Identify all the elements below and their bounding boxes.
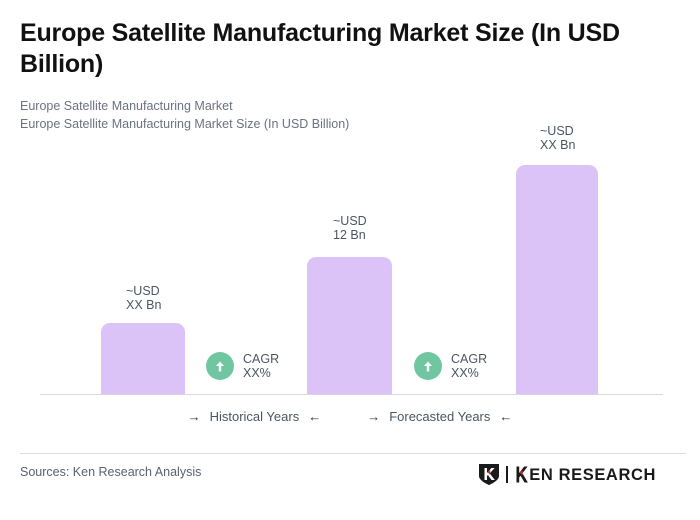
arrow-right-icon: → xyxy=(188,410,201,423)
arrow-left-icon: ← xyxy=(308,410,321,423)
cagr-label-2: CAGR XX% xyxy=(451,352,487,380)
page-title: Europe Satellite Manufacturing Market Si… xyxy=(20,18,668,80)
bar-label-mid: ~USD 12 Bn xyxy=(333,214,367,242)
sources-text: Sources: Ken Research Analysis xyxy=(20,465,201,479)
logo-separator xyxy=(506,466,508,483)
subtitle-line-1: Europe Satellite Manufacturing Market xyxy=(20,97,620,115)
cagr-badge-2: CAGR XX% xyxy=(414,352,487,380)
arrow-up-icon xyxy=(414,352,442,380)
cagr-label-1: CAGR XX% xyxy=(243,352,279,380)
bar-chart: ~USD XX Bn CAGR XX% ~USD 12 Bn xyxy=(0,120,700,400)
ken-research-logo: EN RESEARCH xyxy=(478,463,656,486)
bar-historical[interactable] xyxy=(101,323,185,395)
legend-historical-years: → Historical Years ← xyxy=(188,409,322,424)
legend-forecasted-label: Forecasted Years xyxy=(389,409,490,424)
arrow-up-icon xyxy=(206,352,234,380)
chart-page: Europe Satellite Manufacturing Market Si… xyxy=(0,0,700,520)
axis-baseline xyxy=(40,394,663,395)
logo-text: EN RESEARCH xyxy=(529,466,656,484)
shield-logo-icon xyxy=(478,463,500,486)
years-legend: → Historical Years ← → Forecasted Years … xyxy=(0,409,700,424)
bar-mid[interactable] xyxy=(307,257,392,395)
bar-label-forecast: ~USD XX Bn xyxy=(540,124,575,152)
legend-forecasted-years: → Forecasted Years ← xyxy=(367,409,512,424)
legend-historical-label: Historical Years xyxy=(210,409,300,424)
bar-label-historical: ~USD XX Bn xyxy=(126,284,161,312)
bar-forecast[interactable] xyxy=(516,165,598,395)
cagr-badge-1: CAGR XX% xyxy=(206,352,279,380)
logo-k-icon xyxy=(516,466,529,483)
arrow-left-icon: ← xyxy=(499,410,512,423)
logo-wordmark: EN RESEARCH xyxy=(516,466,656,484)
plot-area: ~USD XX Bn CAGR XX% ~USD 12 Bn xyxy=(0,120,700,395)
footer-divider xyxy=(20,453,686,454)
arrow-right-icon: → xyxy=(367,410,380,423)
